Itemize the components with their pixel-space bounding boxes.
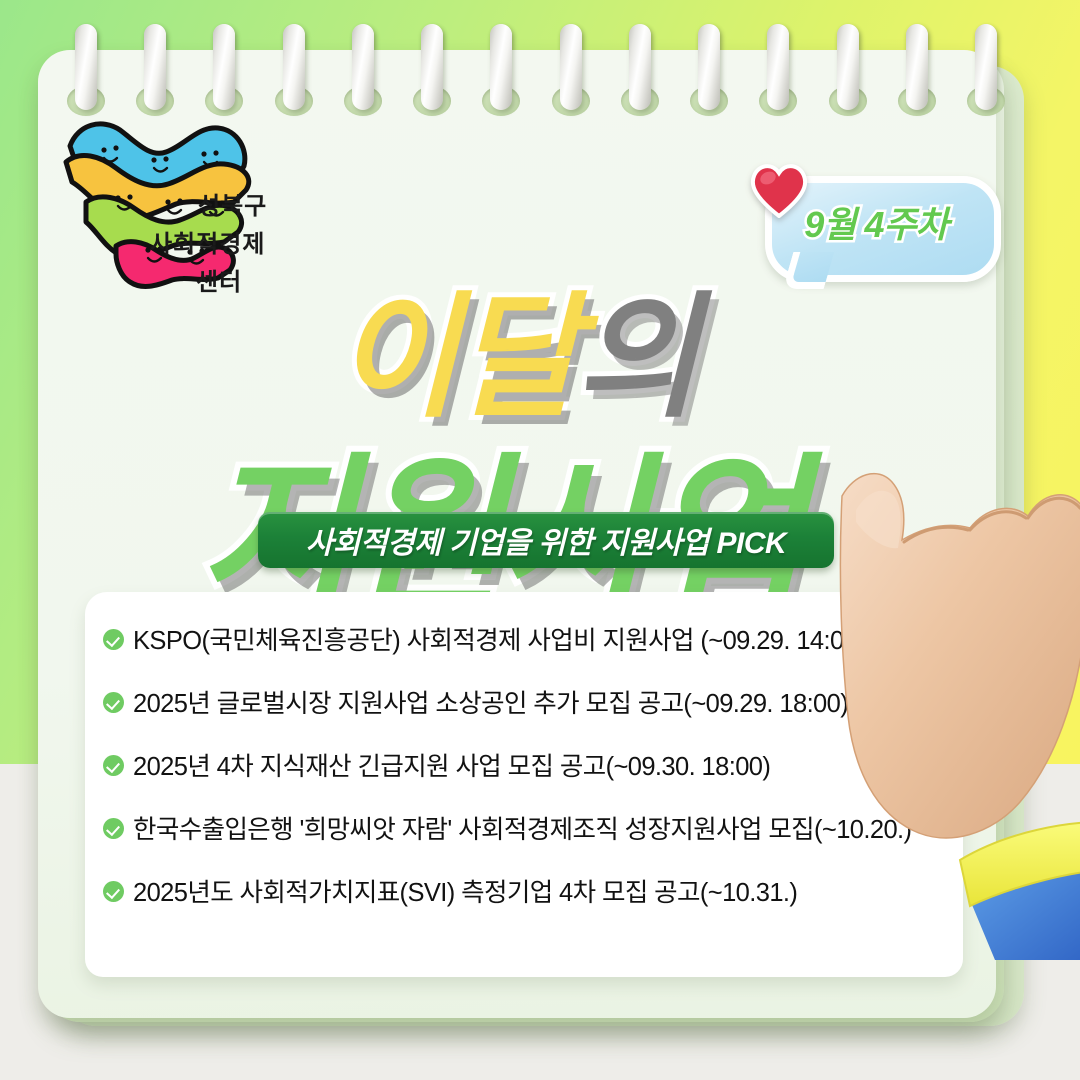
check-circle-icon — [103, 629, 124, 650]
heart-icon — [748, 160, 810, 218]
subtitle-banner-label: 사회적경제 기업을 위한 지원사업 PICK — [306, 518, 786, 562]
spiral-ring-bar — [629, 24, 651, 110]
check-circle-icon — [103, 881, 124, 902]
spiral-ring-bar — [352, 24, 374, 110]
spiral-ring-bar — [698, 24, 720, 110]
pointing-hand-icon — [820, 430, 1080, 960]
title-line-1-yellow: 이달 — [335, 282, 575, 433]
list-item-label: 2025년 글로벌시장 지원사업 소상공인 추가 모집 공고(~09.29. 1… — [133, 683, 848, 725]
poster-canvas: 성북구 사회적경제 센터 이달의 지원사업 9월 4주차 사회적경제 기업을 위… — [0, 0, 1080, 1080]
spiral-binding-ring-icon — [698, 24, 720, 110]
spiral-binding-ring-icon — [560, 24, 582, 110]
check-circle-icon — [103, 692, 124, 713]
spiral-ring-bar — [490, 24, 512, 110]
spiral-binding-ring-icon — [283, 24, 305, 110]
spiral-binding-ring-icon — [837, 24, 859, 110]
spiral-ring-bar — [213, 24, 235, 110]
title-line-1: 이달의 — [335, 290, 696, 425]
spiral-binding-ring-icon — [352, 24, 374, 110]
check-circle-icon — [103, 755, 124, 776]
spiral-ring-bar — [560, 24, 582, 110]
spiral-binding-ring-icon — [144, 24, 166, 110]
list-item-label: 한국수출입은행 '희망씨앗 자람' 사회적경제조직 성장지원사업 모집(~10.… — [133, 809, 911, 851]
check-circle-icon — [103, 818, 124, 839]
spiral-ring-bar — [975, 24, 997, 110]
spiral-binding-ring-icon — [213, 24, 235, 110]
list-item-label: KSPO(국민체육진흥공단) 사회적경제 사업비 지원사업 (~09.29. 1… — [133, 620, 865, 662]
spiral-ring-bar — [283, 24, 305, 110]
list-item-label: 2025년도 사회적가치지표(SVI) 측정기업 4차 모집 공고(~10.31… — [133, 872, 797, 914]
spiral-ring-bar — [767, 24, 789, 110]
spiral-ring-bar — [906, 24, 928, 110]
spiral-binding-ring-icon — [629, 24, 651, 110]
spiral-ring-bar — [144, 24, 166, 110]
spiral-ring-bar — [837, 24, 859, 110]
spiral-binding-ring-icon — [767, 24, 789, 110]
spiral-binding-ring-icon — [975, 24, 997, 110]
spiral-ring-bar — [421, 24, 443, 110]
spiral-binding-ring-icon — [490, 24, 512, 110]
spiral-binding-ring-icon — [75, 24, 97, 110]
spiral-binding-ring-icon — [906, 24, 928, 110]
subtitle-banner: 사회적경제 기업을 위한 지원사업 PICK — [258, 512, 834, 568]
spiral-ring-bar — [75, 24, 97, 110]
list-item-label: 2025년 4차 지식재산 긴급지원 사업 모집 공고(~09.30. 18:0… — [133, 746, 770, 788]
spiral-binding-ring-icon — [421, 24, 443, 110]
title-line-1-gray: 의 — [575, 282, 695, 433]
